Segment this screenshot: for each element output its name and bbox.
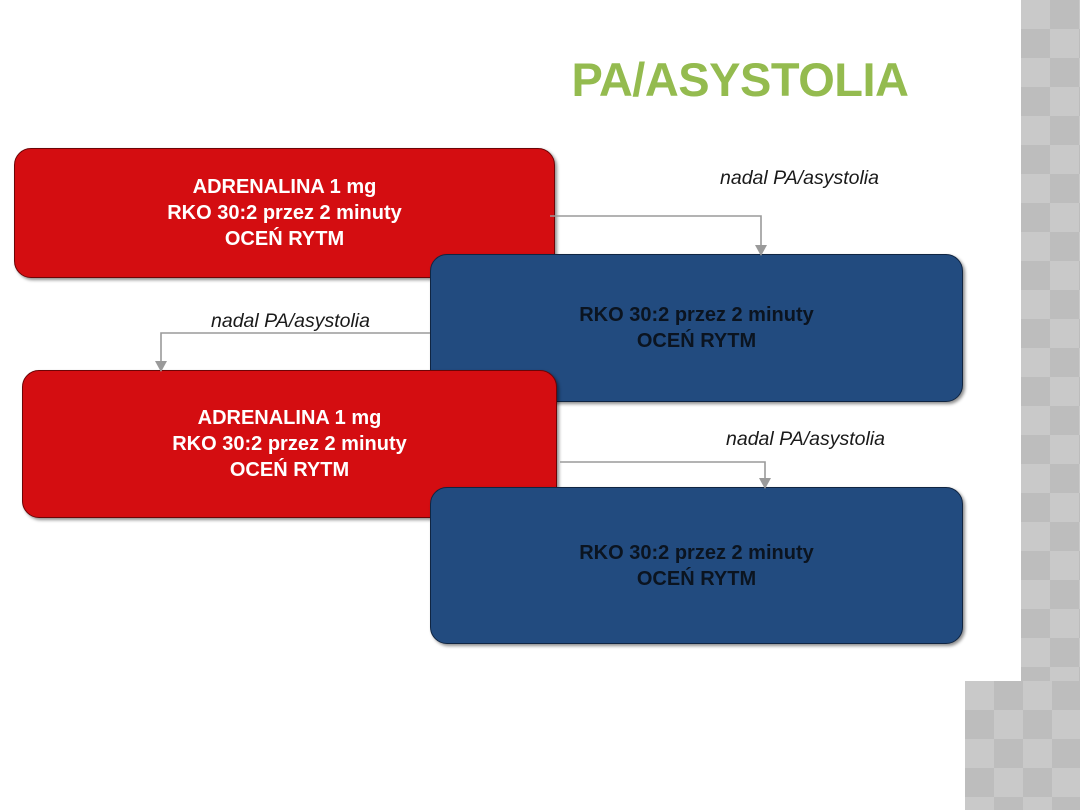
arrow-line-3 bbox=[560, 462, 765, 479]
arrowhead-icon-3 bbox=[759, 478, 771, 489]
arrow-connector-3 bbox=[0, 0, 1080, 810]
slide-canvas: PA/ASYSTOLIA ADRENALINA 1 mg RKO 30:2 pr… bbox=[0, 0, 1080, 810]
arrow-label-3: nadal PA/asystolia bbox=[726, 428, 885, 451]
arrow-label-1: nadal PA/asystolia bbox=[720, 167, 879, 190]
arrow-label-2: nadal PA/asystolia bbox=[211, 310, 370, 333]
